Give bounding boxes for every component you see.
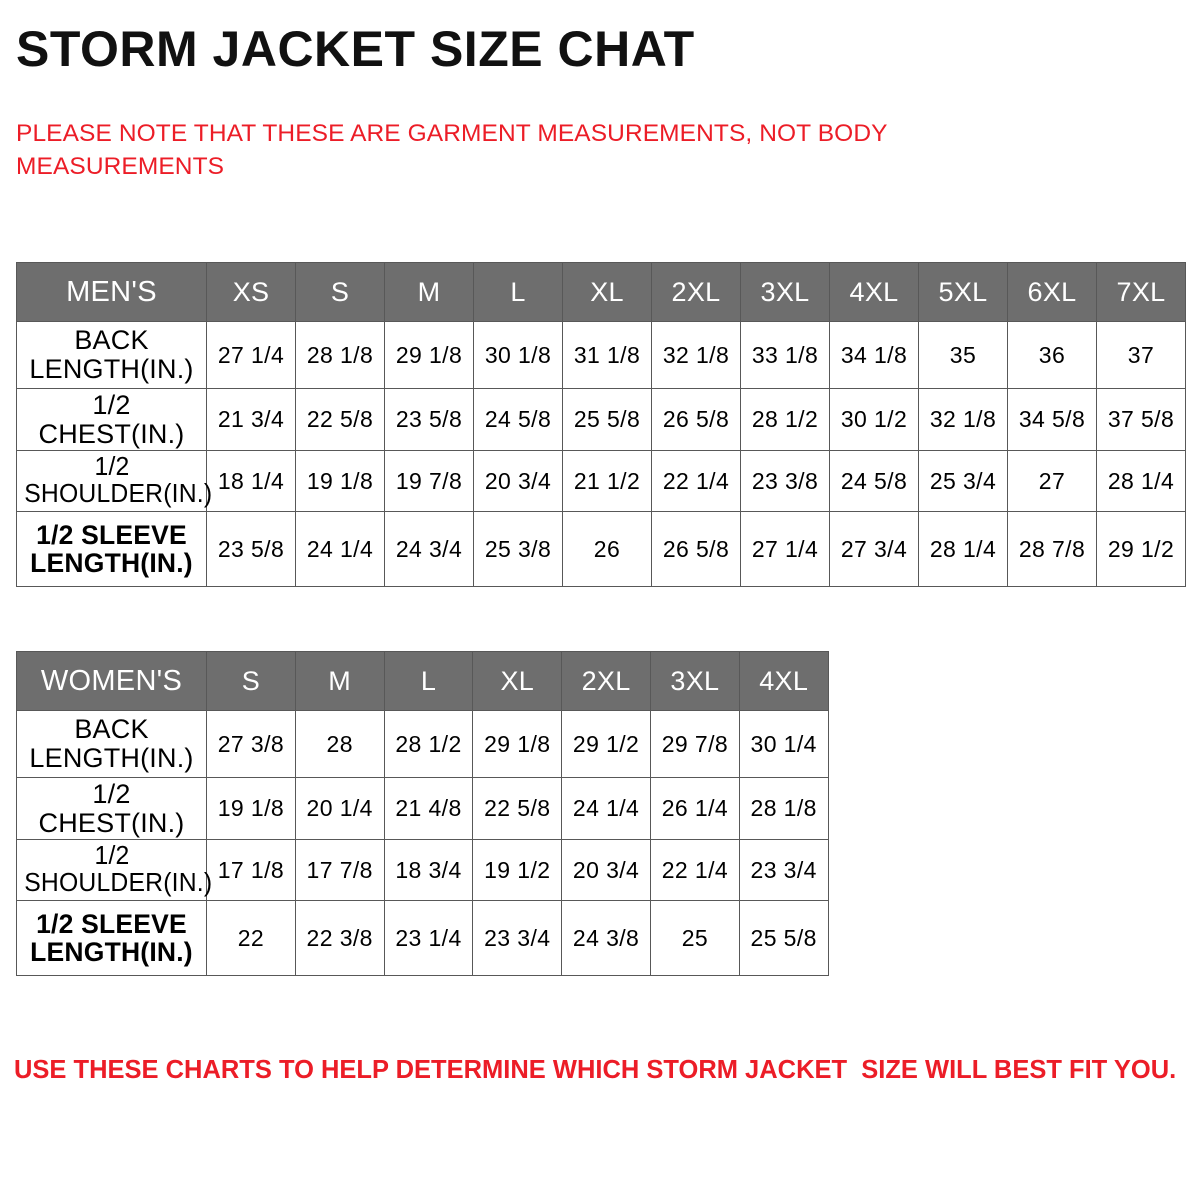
table-row: 1/2 CHEST(IN.) 19 1/8 20 1/4 21 4/8 22 5…	[17, 778, 829, 840]
mens-half-chest-2xl: 26 5/8	[652, 389, 741, 451]
womens-back-length-4xl: 30 1/4	[739, 711, 828, 778]
mens-row-label-half-chest: 1/2 CHEST(IN.)	[17, 389, 207, 451]
womens-back-length-l: 28 1/2	[384, 711, 473, 778]
mens-back-length-xs: 27 1/4	[207, 322, 296, 389]
womens-size-header-2xl: 2XL	[562, 652, 651, 711]
mens-half-chest-4xl: 30 1/2	[830, 389, 919, 451]
mens-row-label-half-shoulder: 1/2 SHOULDER(IN.)	[19, 451, 203, 512]
womens-back-length-m: 28	[295, 711, 384, 778]
womens-half-sleeve-xl: 23 3/4	[473, 901, 562, 976]
mens-half-shoulder-7xl: 28 1/4	[1097, 451, 1186, 512]
womens-size-header-l: L	[384, 652, 473, 711]
womens-half-chest-4xl: 28 1/8	[739, 778, 828, 840]
mens-size-header-4xl: 4XL	[830, 263, 919, 322]
mens-size-header-5xl: 5XL	[919, 263, 1008, 322]
mens-half-sleeve-xs: 23 5/8	[207, 512, 296, 587]
womens-half-shoulder-xl: 19 1/2	[473, 840, 562, 901]
mens-row-label-back-length: BACKLENGTH(IN.)	[17, 322, 207, 389]
womens-half-chest-m: 20 1/4	[295, 778, 384, 840]
mens-half-chest-m: 23 5/8	[385, 389, 474, 451]
womens-half-shoulder-m: 17 7/8	[295, 840, 384, 901]
mens-half-chest-l: 24 5/8	[474, 389, 563, 451]
womens-size-header-s: S	[207, 652, 296, 711]
womens-back-length-xl: 29 1/8	[473, 711, 562, 778]
table-row: 1/2 SLEEVELENGTH(IN.) 22 22 3/8 23 1/4 2…	[17, 901, 829, 976]
womens-half-chest-s: 19 1/8	[207, 778, 296, 840]
mens-back-length-m: 29 1/8	[385, 322, 474, 389]
mens-size-header-2xl: 2XL	[652, 263, 741, 322]
womens-half-chest-2xl: 24 1/4	[562, 778, 651, 840]
page-title: STORM JACKET SIZE CHAT	[16, 22, 695, 76]
womens-half-shoulder-2xl: 20 3/4	[562, 840, 651, 901]
label-line-2: LENGTH(IN.)	[30, 548, 193, 578]
label-line-2: LENGTH(IN.)	[30, 937, 193, 967]
mens-size-header-xs: XS	[207, 263, 296, 322]
table-row: 1/2 SHOULDER(IN.) 17 1/8 17 7/8 18 3/4 1…	[17, 840, 829, 901]
womens-table-head: WOMEN'S S M L XL 2XL 3XL 4XL	[17, 652, 829, 711]
mens-back-length-3xl: 33 1/8	[741, 322, 830, 389]
womens-row-label-half-chest: 1/2 CHEST(IN.)	[17, 778, 207, 840]
mens-back-length-l: 30 1/8	[474, 322, 563, 389]
womens-half-shoulder-l: 18 3/4	[384, 840, 473, 901]
womens-half-shoulder-3xl: 22 1/4	[650, 840, 739, 901]
mens-half-sleeve-4xl: 27 3/4	[830, 512, 919, 587]
womens-half-sleeve-l: 23 1/4	[384, 901, 473, 976]
mens-back-length-7xl: 37	[1097, 322, 1186, 389]
womens-row-label-half-shoulder: 1/2 SHOULDER(IN.)	[19, 840, 203, 901]
womens-back-length-2xl: 29 1/2	[562, 711, 651, 778]
mens-size-header-m: M	[385, 263, 474, 322]
mens-half-sleeve-m: 24 3/4	[385, 512, 474, 587]
mens-size-header-6xl: 6XL	[1008, 263, 1097, 322]
mens-size-header-3xl: 3XL	[741, 263, 830, 322]
table-row: BACKLENGTH(IN.) 27 1/4 28 1/8 29 1/8 30 …	[17, 322, 1186, 389]
mens-size-header-7xl: 7XL	[1097, 263, 1186, 322]
womens-size-header-m: M	[295, 652, 384, 711]
mens-table-head: MEN'S XS S M L XL 2XL 3XL 4XL 5XL 6XL 7X…	[17, 263, 1186, 322]
mens-size-header-s: S	[296, 263, 385, 322]
label-line-2: LENGTH(IN.)	[29, 354, 193, 384]
mens-size-header-xl: XL	[563, 263, 652, 322]
mens-half-shoulder-m: 19 7/8	[385, 451, 474, 512]
mens-back-length-xl: 31 1/8	[563, 322, 652, 389]
label-line-1: BACK	[74, 714, 148, 744]
womens-half-chest-l: 21 4/8	[384, 778, 473, 840]
mens-half-shoulder-s: 19 1/8	[296, 451, 385, 512]
womens-table-body: BACKLENGTH(IN.) 27 3/8 28 28 1/2 29 1/8 …	[17, 711, 829, 976]
womens-half-sleeve-3xl: 25	[650, 901, 739, 976]
womens-size-header-4xl: 4XL	[739, 652, 828, 711]
womens-size-table: WOMEN'S S M L XL 2XL 3XL 4XL BACKLENGTH(…	[16, 651, 829, 976]
mens-half-shoulder-3xl: 23 3/8	[741, 451, 830, 512]
womens-corner-label: WOMEN'S	[17, 652, 207, 711]
mens-half-shoulder-xs: 18 1/4	[207, 451, 296, 512]
womens-row-label-half-sleeve-length: 1/2 SLEEVELENGTH(IN.)	[17, 901, 207, 976]
womens-half-chest-xl: 22 5/8	[473, 778, 562, 840]
womens-half-shoulder-s: 17 1/8	[207, 840, 296, 901]
size-chart-page: STORM JACKET SIZE CHAT PLEASE NOTE THAT …	[0, 0, 1200, 1200]
mens-table-body: BACKLENGTH(IN.) 27 1/4 28 1/8 29 1/8 30 …	[17, 322, 1186, 587]
mens-half-sleeve-5xl: 28 1/4	[919, 512, 1008, 587]
label-line-1: BACK	[74, 325, 148, 355]
mens-half-shoulder-5xl: 25 3/4	[919, 451, 1008, 512]
mens-half-shoulder-2xl: 22 1/4	[652, 451, 741, 512]
mens-half-shoulder-6xl: 27	[1008, 451, 1097, 512]
mens-half-chest-xl: 25 5/8	[563, 389, 652, 451]
mens-back-length-2xl: 32 1/8	[652, 322, 741, 389]
womens-row-label-back-length: BACKLENGTH(IN.)	[17, 711, 207, 778]
mens-half-sleeve-s: 24 1/4	[296, 512, 385, 587]
mens-half-sleeve-l: 25 3/8	[474, 512, 563, 587]
garment-measurement-note: PLEASE NOTE THAT THESE ARE GARMENT MEASU…	[16, 118, 1026, 183]
mens-back-length-s: 28 1/8	[296, 322, 385, 389]
mens-back-length-6xl: 36	[1008, 322, 1097, 389]
mens-half-chest-s: 22 5/8	[296, 389, 385, 451]
mens-size-header-l: L	[474, 263, 563, 322]
womens-half-sleeve-2xl: 24 3/8	[562, 901, 651, 976]
mens-half-chest-6xl: 34 5/8	[1008, 389, 1097, 451]
label-line-1: 1/2 SLEEVE	[36, 909, 187, 939]
womens-half-chest-3xl: 26 1/4	[650, 778, 739, 840]
womens-size-header-xl: XL	[473, 652, 562, 711]
mens-half-chest-3xl: 28 1/2	[741, 389, 830, 451]
table-row: BACKLENGTH(IN.) 27 3/8 28 28 1/2 29 1/8 …	[17, 711, 829, 778]
womens-half-sleeve-m: 22 3/8	[295, 901, 384, 976]
label-line-1: 1/2 SLEEVE	[36, 520, 187, 550]
mens-half-chest-xs: 21 3/4	[207, 389, 296, 451]
womens-back-length-3xl: 29 7/8	[650, 711, 739, 778]
womens-half-sleeve-s: 22	[207, 901, 296, 976]
fit-guidance-note: USE THESE CHARTS TO HELP DETERMINE WHICH…	[14, 1056, 1184, 1085]
mens-half-shoulder-xl: 21 1/2	[563, 451, 652, 512]
mens-half-sleeve-2xl: 26 5/8	[652, 512, 741, 587]
mens-back-length-5xl: 35	[919, 322, 1008, 389]
mens-half-sleeve-3xl: 27 1/4	[741, 512, 830, 587]
mens-back-length-4xl: 34 1/8	[830, 322, 919, 389]
mens-header-row: MEN'S XS S M L XL 2XL 3XL 4XL 5XL 6XL 7X…	[17, 263, 1186, 322]
mens-half-shoulder-4xl: 24 5/8	[830, 451, 919, 512]
womens-half-sleeve-4xl: 25 5/8	[739, 901, 828, 976]
table-row: 1/2 SLEEVELENGTH(IN.) 23 5/8 24 1/4 24 3…	[17, 512, 1186, 587]
mens-half-shoulder-l: 20 3/4	[474, 451, 563, 512]
mens-half-chest-7xl: 37 5/8	[1097, 389, 1186, 451]
mens-row-label-half-sleeve-length: 1/2 SLEEVELENGTH(IN.)	[17, 512, 207, 587]
womens-size-header-3xl: 3XL	[650, 652, 739, 711]
mens-corner-label: MEN'S	[17, 263, 207, 322]
womens-back-length-s: 27 3/8	[207, 711, 296, 778]
mens-half-chest-5xl: 32 1/8	[919, 389, 1008, 451]
label-line-2: LENGTH(IN.)	[29, 743, 193, 773]
womens-half-shoulder-4xl: 23 3/4	[739, 840, 828, 901]
mens-half-sleeve-6xl: 28 7/8	[1008, 512, 1097, 587]
table-row: 1/2 SHOULDER(IN.) 18 1/4 19 1/8 19 7/8 2…	[17, 451, 1186, 512]
mens-half-sleeve-7xl: 29 1/2	[1097, 512, 1186, 587]
womens-header-row: WOMEN'S S M L XL 2XL 3XL 4XL	[17, 652, 829, 711]
mens-size-table: MEN'S XS S M L XL 2XL 3XL 4XL 5XL 6XL 7X…	[16, 262, 1186, 587]
table-row: 1/2 CHEST(IN.) 21 3/4 22 5/8 23 5/8 24 5…	[17, 389, 1186, 451]
mens-half-sleeve-xl: 26	[563, 512, 652, 587]
